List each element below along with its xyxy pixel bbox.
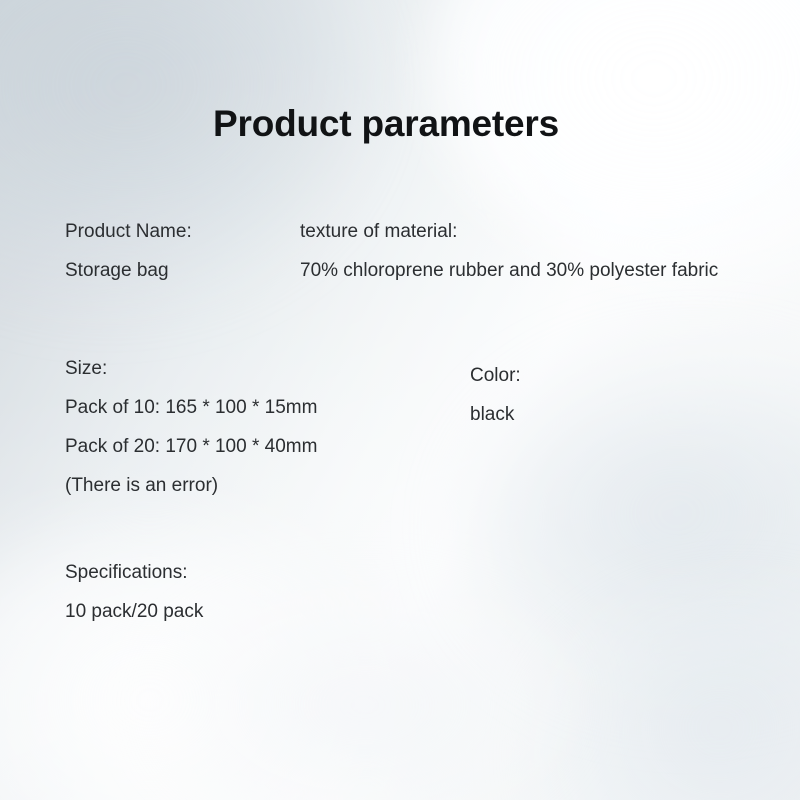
field-product-name: Product Name: Storage bag: [65, 212, 192, 290]
size-pack-of-10: Pack of 10: 165 * 100 * 15mm: [65, 388, 317, 427]
size-pack-of-20: Pack of 20: 170 * 100 * 40mm: [65, 427, 317, 466]
product-name-label: Product Name:: [65, 212, 192, 251]
content-layer: Product parameters Product Name: Storage…: [0, 0, 800, 800]
material-value: 70% chloroprene rubber and 30% polyester…: [300, 251, 718, 290]
field-color: Color: black: [470, 356, 521, 434]
color-value: black: [470, 395, 521, 434]
specifications-label: Specifications:: [65, 553, 203, 592]
color-label: Color:: [470, 356, 521, 395]
size-label: Size:: [65, 349, 317, 388]
product-parameters-page: Product parameters Product Name: Storage…: [0, 0, 800, 800]
field-texture-of-material: texture of material: 70% chloroprene rub…: [300, 212, 718, 290]
specifications-value: 10 pack/20 pack: [65, 592, 203, 631]
field-size: Size: Pack of 10: 165 * 100 * 15mm Pack …: [65, 349, 317, 505]
material-label: texture of material:: [300, 212, 718, 251]
product-name-value: Storage bag: [65, 251, 192, 290]
size-error-note: (There is an error): [65, 466, 317, 505]
page-title: Product parameters: [0, 104, 772, 145]
field-specifications: Specifications: 10 pack/20 pack: [65, 553, 203, 631]
